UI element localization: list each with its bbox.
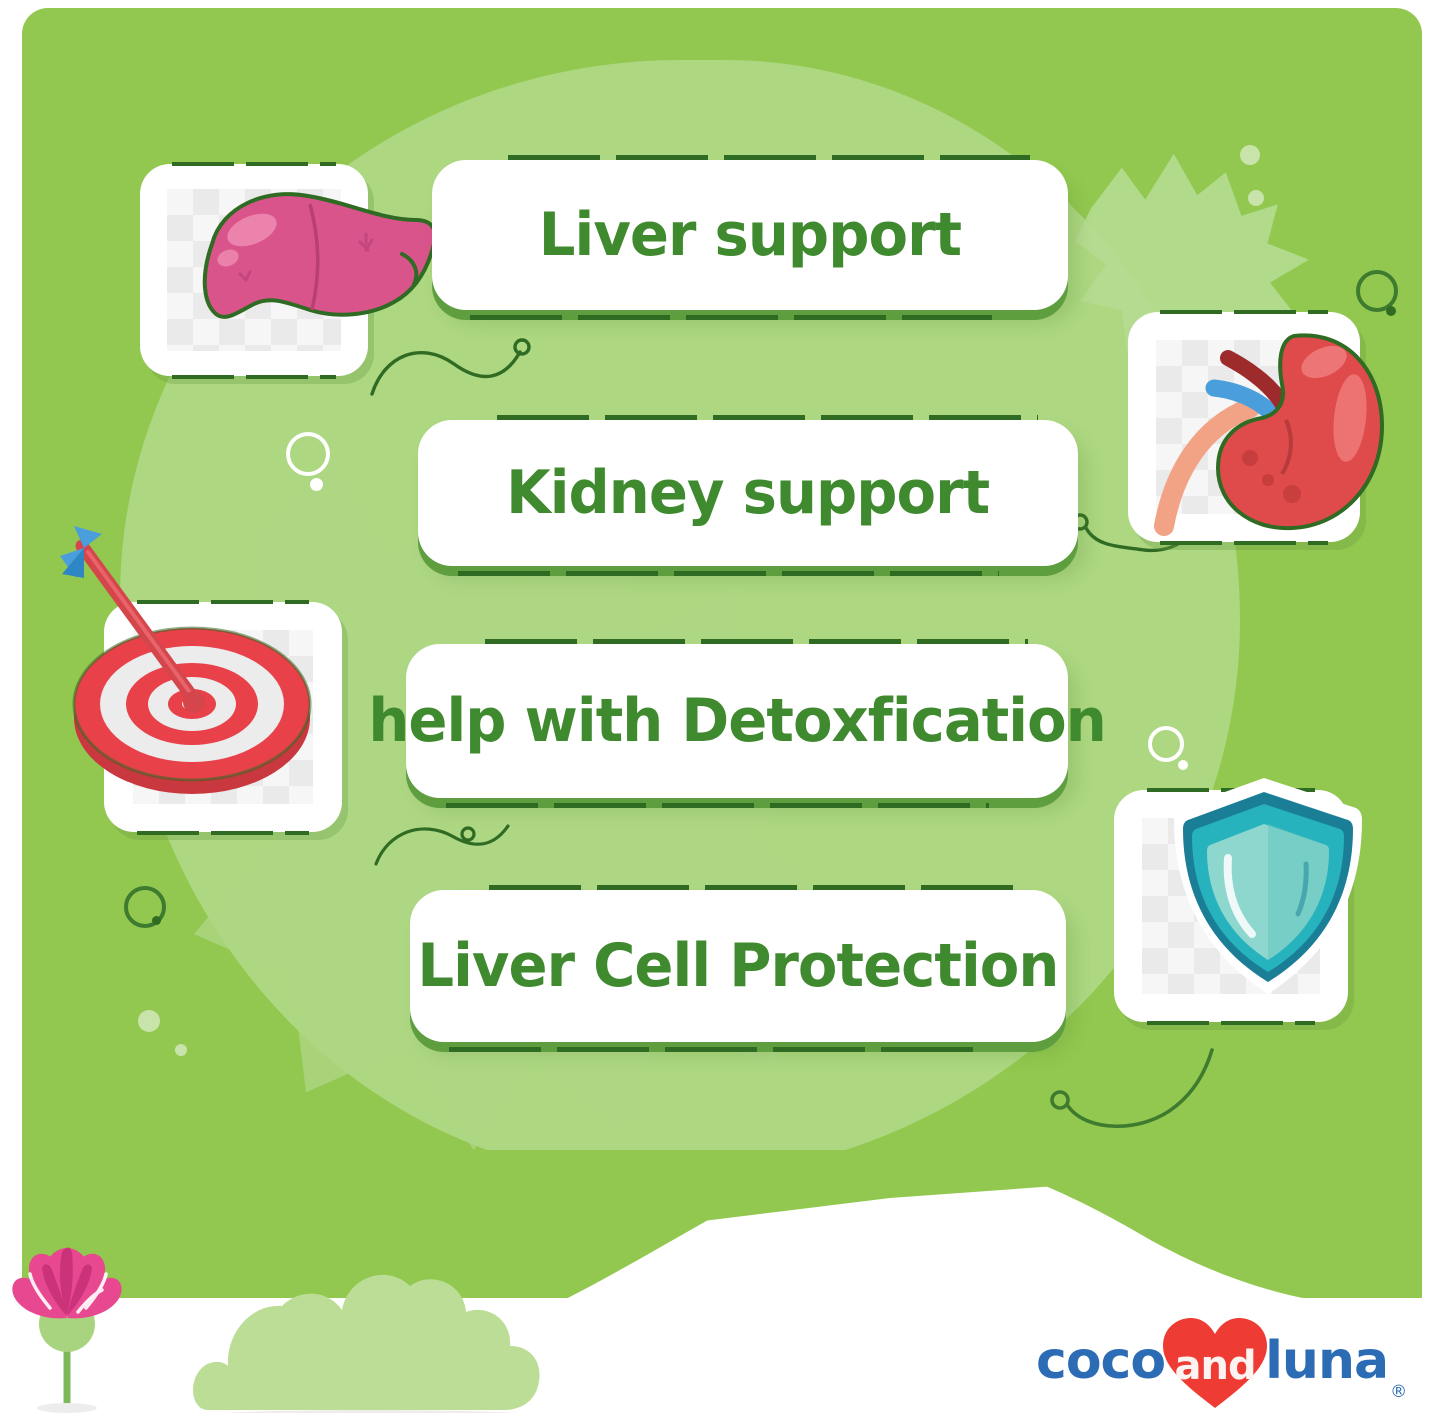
decorative-bubble [175, 1044, 187, 1056]
benefit-label: Liver Cell Protection [417, 936, 1058, 996]
target-icon-tile [104, 602, 342, 832]
card-rule-bottom [458, 571, 999, 576]
logo-word-luna: luna [1265, 1335, 1388, 1387]
registered-trademark-mark: ® [1390, 1382, 1407, 1402]
infographic-canvas: Liver support Kidney support help with D… [0, 0, 1445, 1413]
benefit-card-liver-cell-protection[interactable]: Liver Cell Protection [410, 890, 1066, 1042]
curly-connector-line [372, 818, 512, 878]
flower-icon [4, 1224, 134, 1413]
kidney-icon [1128, 312, 1360, 542]
kidney-icon-tile [1128, 312, 1360, 542]
logo-word-coco: coco [1036, 1335, 1165, 1387]
card-rule-top [508, 155, 1030, 160]
shield-icon-tile [1114, 790, 1348, 1022]
decorative-bubble [152, 916, 161, 925]
decorative-bubble [1240, 145, 1260, 165]
benefit-label: help with Detoxfication [368, 691, 1105, 751]
decorative-bubble [1248, 190, 1264, 206]
card-rule-bottom [470, 315, 992, 320]
curly-connector-line [1046, 1048, 1226, 1138]
decorative-bubble [1178, 760, 1188, 770]
bush-shape [188, 1250, 548, 1413]
benefit-card-detoxification[interactable]: help with Detoxfication [406, 644, 1068, 798]
benefit-card-kidney-support[interactable]: Kidney support [418, 420, 1078, 566]
card-rule-top [485, 639, 1028, 644]
decorative-ring [1148, 726, 1184, 762]
liver-icon [140, 164, 368, 376]
heart-icon: and [1159, 1312, 1271, 1410]
card-rule-top [497, 415, 1038, 420]
decorative-bubble [1386, 306, 1396, 316]
shield-icon [1114, 790, 1348, 1022]
card-rule-bottom [449, 1047, 987, 1052]
liver-icon-tile [140, 164, 368, 376]
card-rule-bottom [446, 803, 989, 808]
logo-word-and: and [1175, 1343, 1256, 1389]
card-rule-top [489, 885, 1027, 890]
decorative-bubble [138, 1010, 160, 1032]
decorative-bubble [310, 478, 323, 491]
benefit-card-liver-support[interactable]: Liver support [432, 160, 1068, 310]
target-arrow-icon [104, 602, 342, 832]
decorative-ring [286, 432, 330, 476]
benefit-label: Kidney support [506, 463, 989, 523]
benefit-label: Liver support [539, 205, 961, 265]
coco-and-luna-logo: coco and luna ® [1036, 1312, 1407, 1410]
